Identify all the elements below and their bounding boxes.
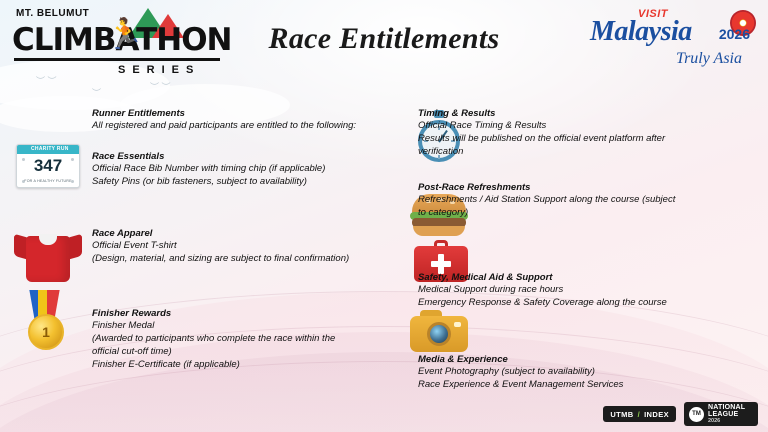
malaysia-tagline: Truly Asia (676, 50, 742, 68)
block-heading: Post-Race Refreshments (418, 182, 748, 193)
block-race-essentials: Race Essentials Official Race Bib Number… (92, 151, 392, 189)
utmb-index-logo: UTMB / INDEX (603, 406, 676, 422)
national-league-line-2: LEAGUE (708, 411, 745, 418)
utmb-index-label: INDEX (644, 410, 669, 419)
national-league-logo: TM NATIONAL LEAGUE 2026 (684, 402, 758, 426)
bib-number-text: 347 (17, 156, 79, 176)
bib-number-icon: CHARITY RUN 347 FOR A HEALTHY FUTURE (16, 144, 80, 188)
bib-pin-1 (22, 158, 25, 161)
block-line: Medical Support during race hours (418, 284, 748, 297)
block-line: (Awarded to participants who complete th… (92, 333, 392, 346)
malaysia-year: 2026 (719, 26, 750, 42)
national-league-year: 2026 (708, 418, 745, 424)
block-line: Event Photography (subject to availabili… (418, 366, 748, 379)
block-line: Finisher E-Certificate (if applicable) (92, 359, 392, 372)
medal-icon: 1 (16, 290, 80, 352)
block-line: All registered and paid participants are… (92, 120, 392, 133)
bib-pin-3 (22, 180, 25, 183)
medal-disc: 1 (28, 314, 64, 350)
block-timing-results: Timing & Results Official Race Timing & … (418, 108, 748, 158)
national-league-line-1: NATIONAL (708, 404, 745, 411)
block-safety-medical: Safety, Medical Aid & Support Medical Su… (418, 272, 748, 310)
block-line: (Design, material, and sizing are subjec… (92, 253, 392, 266)
block-heading: Media & Experience (418, 354, 748, 365)
bib-footer-text: FOR A HEALTHY FUTURE (17, 179, 79, 183)
block-heading: Timing & Results (418, 108, 748, 119)
block-race-apparel: Race Apparel Official Event T-shirt (Des… (92, 228, 392, 266)
national-league-text-group: NATIONAL LEAGUE 2026 (708, 404, 745, 425)
block-post-race-refreshments: Post-Race Refreshments Refreshments / Ai… (418, 182, 748, 220)
bib-pin-2 (71, 158, 74, 161)
block-line: official cut-off time) (92, 346, 392, 359)
block-heading: Race Essentials (92, 151, 392, 162)
visit-malaysia-logo: VISIT Malaysia 2026 Truly Asia (586, 8, 756, 88)
logo-top-text: MT. BELUMUT (16, 8, 89, 19)
utmb-label: UTMB (610, 410, 633, 419)
medal-rank-text: 1 (30, 324, 62, 340)
logo-series-text: SERIES (118, 64, 200, 76)
block-line: Official Event T-shirt (92, 240, 392, 253)
utmb-slash: / (638, 410, 640, 419)
block-heading: Runner Entitlements (92, 108, 392, 119)
logo-underline (14, 58, 220, 61)
bib-banner-text: CHARITY RUN (31, 146, 69, 152)
left-entitlements-column: Runner Entitlements All registered and p… (92, 108, 392, 385)
block-runner-entitlements: Runner Entitlements All registered and p… (92, 108, 392, 133)
block-line: Results will be published on the officia… (418, 133, 748, 146)
block-line: verification (418, 146, 748, 159)
bib-banner: CHARITY RUN (17, 145, 79, 154)
block-media-experience: Media & Experience Event Photography (su… (418, 354, 748, 392)
tshirt-icon (14, 228, 82, 286)
block-line: Finisher Medal (92, 320, 392, 333)
block-line: to category) (418, 207, 748, 220)
block-heading: Safety, Medical Aid & Support (418, 272, 748, 283)
block-line: Race Experience & Event Management Servi… (418, 379, 748, 392)
slide-root: ︶ ︶ ︶ ︶ ︶ MT. BELUMUT CLIMBATHON 🏃 SERIE… (0, 0, 768, 432)
right-entitlements-column: Timing & Results Official Race Timing & … (418, 108, 748, 405)
block-line: Refreshments / Aid Station Support along… (418, 194, 748, 207)
block-line: Emergency Response & Safety Coverage alo… (418, 297, 748, 310)
block-heading: Race Apparel (92, 228, 392, 239)
block-line: Official Race Timing & Results (418, 120, 748, 133)
bib-pin-4 (71, 180, 74, 183)
block-finisher-rewards: Finisher Rewards Finisher Medal (Awarded… (92, 308, 392, 371)
block-heading: Finisher Rewards (92, 308, 392, 319)
national-league-emblem: TM (689, 407, 704, 422)
block-line: Safety Pins (or bib fasteners, subject t… (92, 176, 392, 189)
block-line: Official Race Bib Number with timing chi… (92, 163, 392, 176)
malaysia-label: Malaysia (590, 16, 692, 48)
